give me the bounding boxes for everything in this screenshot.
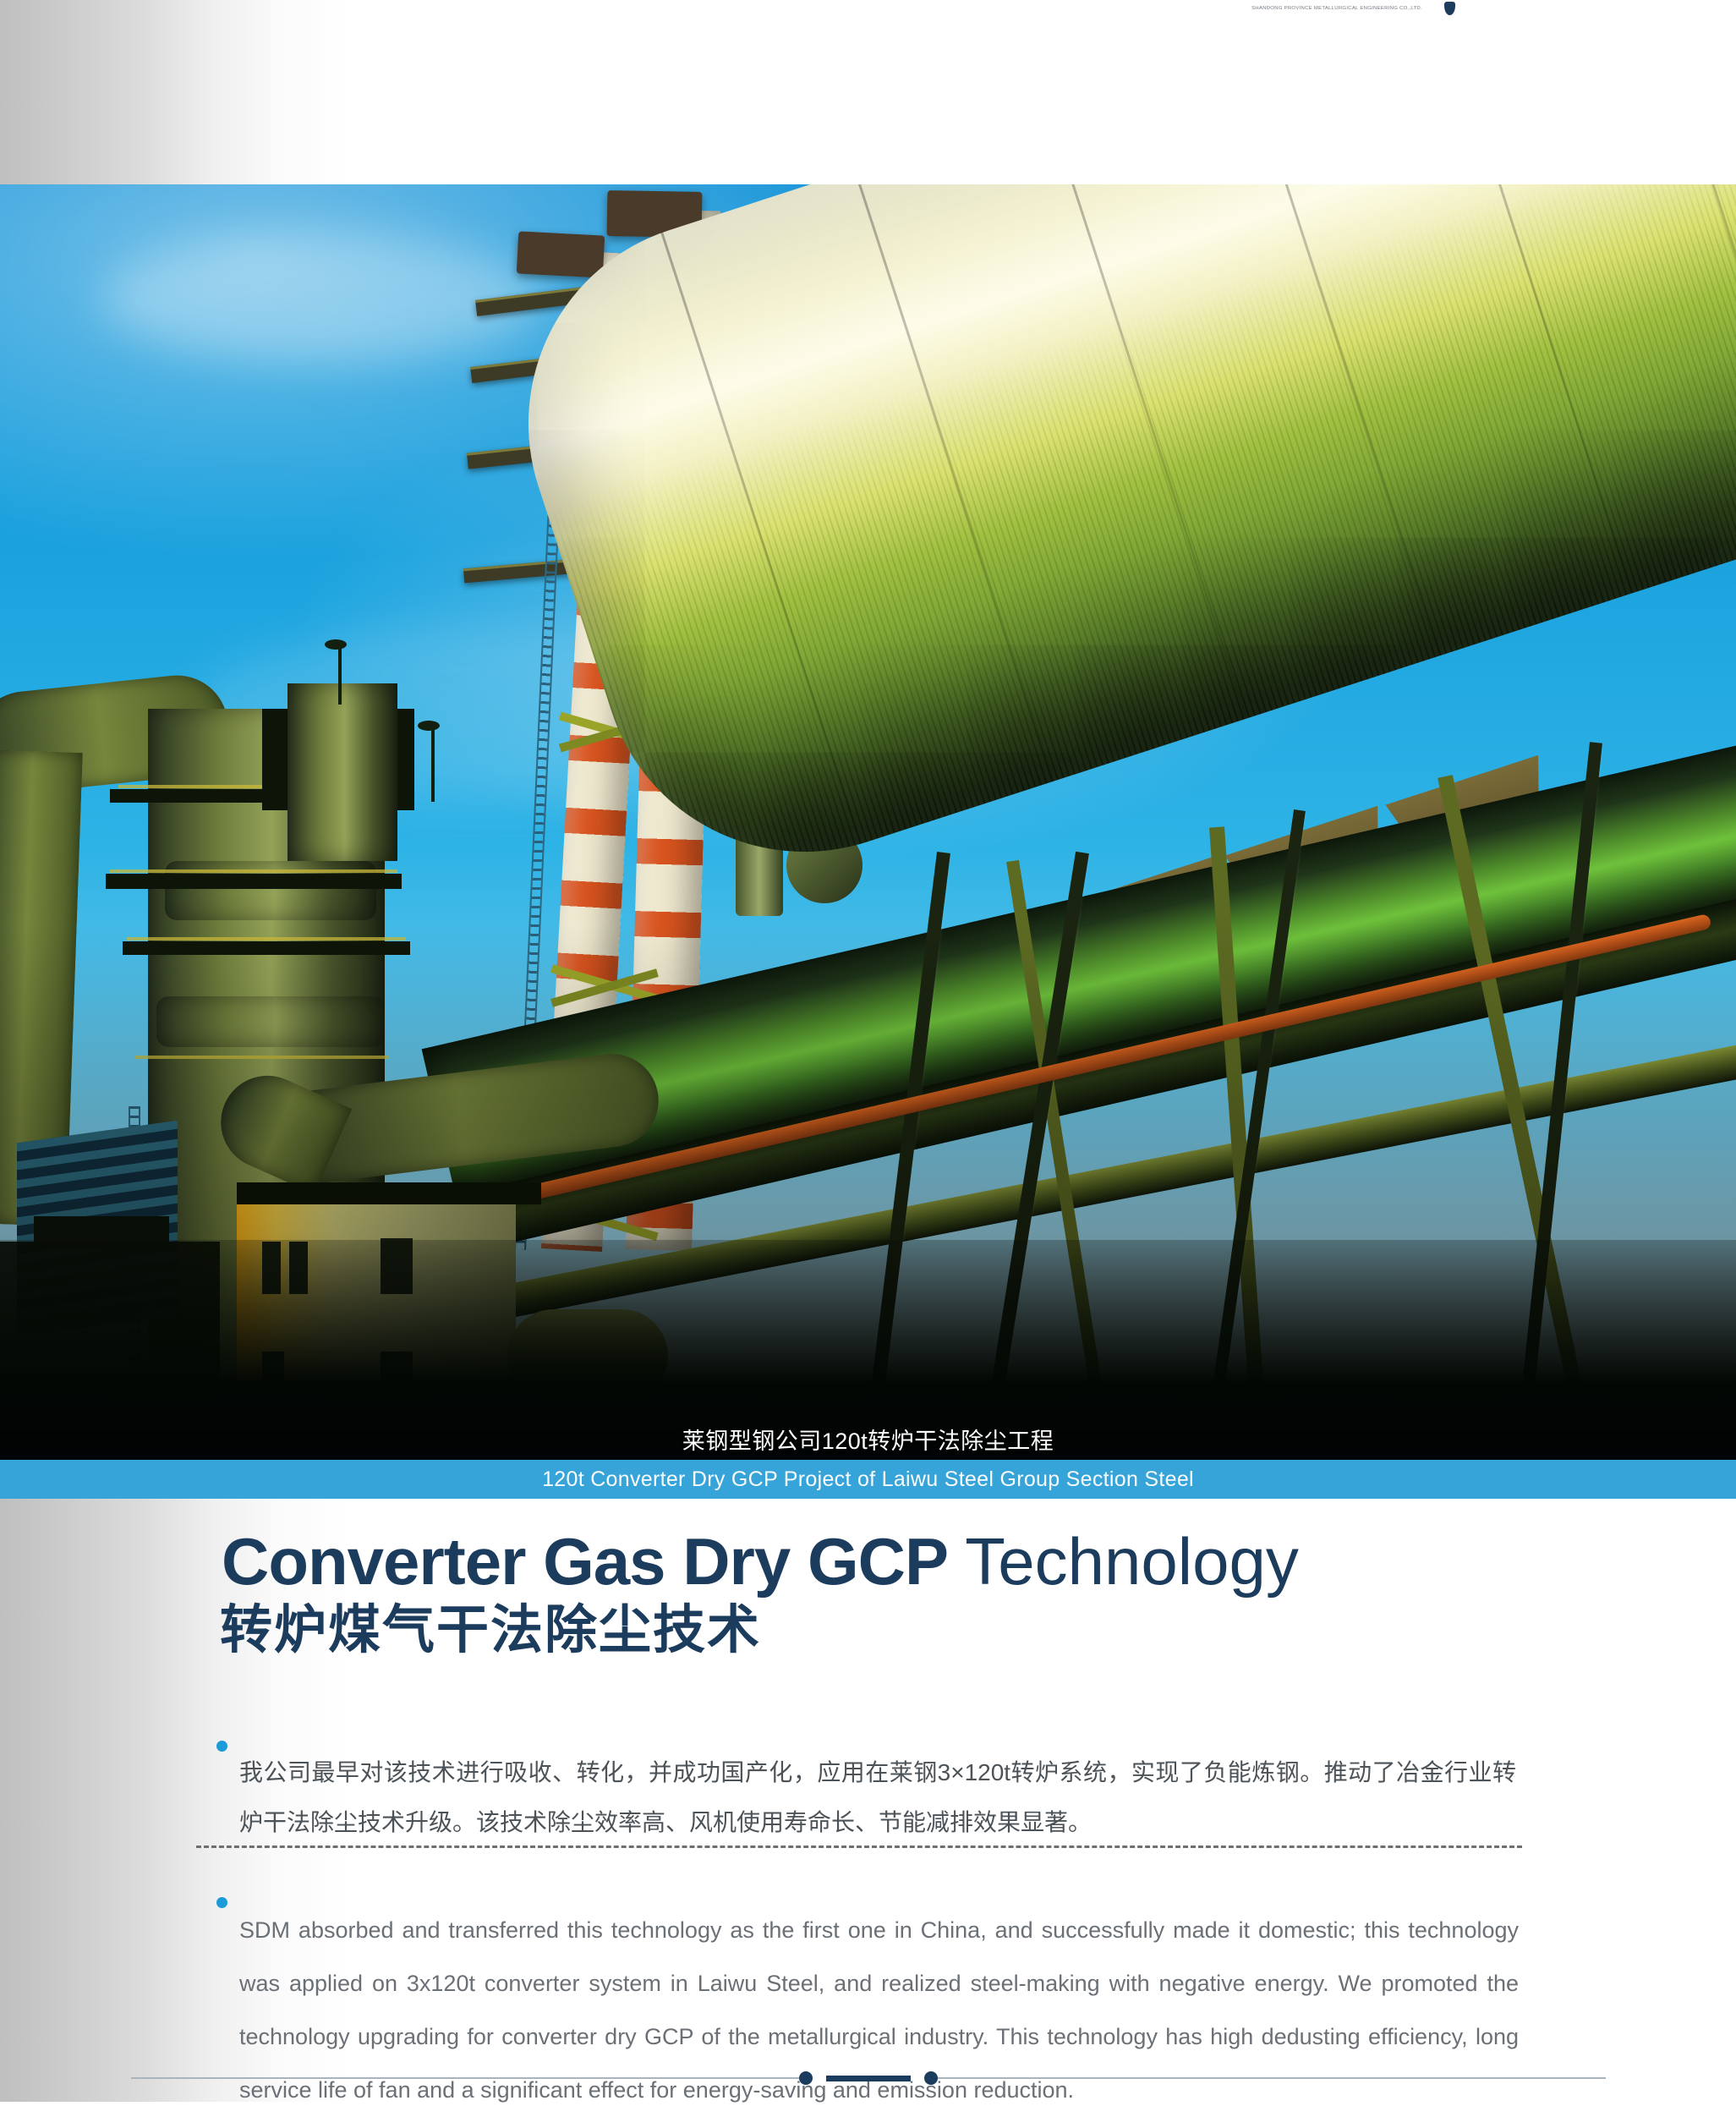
bullet-point-icon [216, 1897, 227, 1908]
ornament-line-left [131, 2077, 799, 2079]
ornament-dot-left [799, 2071, 813, 2085]
tower-flange [156, 996, 385, 1047]
page-title-english: Converter Gas Dry GCP Technology [222, 1528, 1659, 1594]
page-title-light-part: Technology [948, 1524, 1299, 1599]
page-title-chinese: 转炉煤气干法除尘技术 [220, 1604, 761, 1657]
page-title-bold-part: Converter Gas Dry GCP [222, 1524, 948, 1599]
lamp-post [431, 726, 435, 802]
body-paragraph-chinese: 我公司最早对该技术进行吸收、转化，并成功国产化，应用在莱钢3×120t转炉系统，… [239, 1747, 1516, 1847]
company-logo-lockup: SHANDONG PROVINCE METALLURGICAL ENGINEER… [1251, 1, 1607, 16]
photo-caption-english: 120t Converter Dry GCP Project of Laiwu … [542, 1467, 1194, 1492]
project-photo [0, 184, 1736, 1460]
shield-logo-mark-icon [1444, 2, 1455, 15]
gas-cooler [288, 683, 397, 861]
lamp-post [338, 645, 342, 705]
photo-caption-bar: 120t Converter Dry GCP Project of Laiwu … [0, 1460, 1736, 1499]
cloud-shape [101, 235, 541, 362]
page-header: SHANDONG PROVINCE METALLURGICAL ENGINEER… [0, 0, 1736, 184]
bullet-point-icon [216, 1741, 227, 1752]
photo-caption-chinese: 莱钢型钢公司120t转炉干法除尘工程 [0, 1418, 1736, 1460]
platform-deck [123, 941, 410, 955]
chimney-cap-left [517, 231, 605, 277]
platform-rail [110, 869, 397, 873]
lamp-head-icon [418, 721, 440, 731]
ornament-dot-right [924, 2071, 938, 2085]
ornament-center-bar [826, 2076, 911, 2081]
ornament-line-right [938, 2077, 1606, 2079]
lamp-head-icon [325, 639, 347, 650]
building-roof-edge [237, 1182, 541, 1204]
platform-deck [106, 874, 402, 889]
paragraph-divider [196, 1846, 1522, 1848]
page-root: SHANDONG PROVINCE METALLURGICAL ENGINEER… [0, 0, 1736, 2102]
page-footer-ornament [0, 2069, 1736, 2087]
company-name-micro-text: SHANDONG PROVINCE METALLURGICAL ENGINEER… [1251, 6, 1422, 10]
platform-rail [135, 1056, 389, 1059]
platform-rail [127, 937, 406, 941]
